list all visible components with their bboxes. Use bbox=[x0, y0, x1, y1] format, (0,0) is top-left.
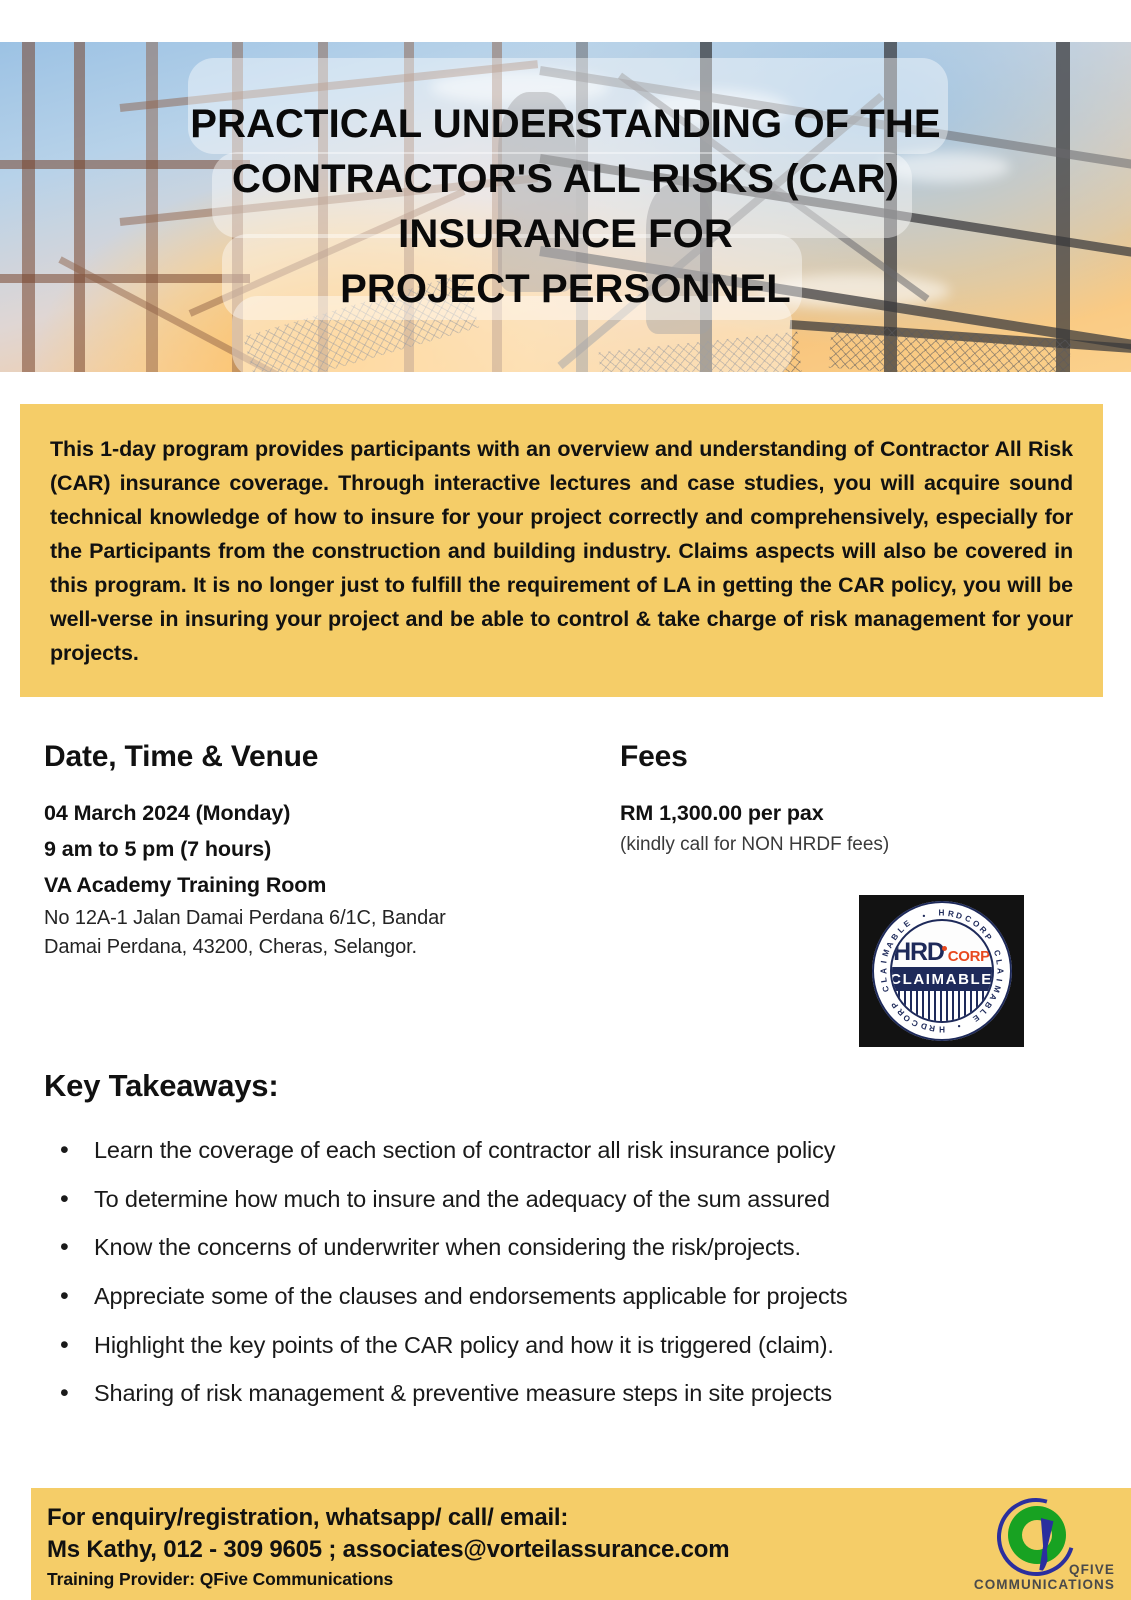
fee-note: (kindly call for NON HRDF fees) bbox=[620, 832, 1090, 859]
badge-inner-circle: HRD CORP CLAIMABLE bbox=[890, 919, 994, 1023]
fees-heading: Fees bbox=[620, 740, 1090, 774]
takeaway-item: •Highlight the key points of the CAR pol… bbox=[60, 1331, 1060, 1360]
title-line-3: INSURANCE FOR bbox=[398, 208, 733, 261]
venue-name: VA Academy Training Room bbox=[44, 868, 584, 904]
takeaway-item: •Know the concerns of underwriter when c… bbox=[60, 1233, 1060, 1262]
date-time-venue-column: Date, Time & Venue 04 March 2024 (Monday… bbox=[44, 740, 584, 962]
takeaway-text: Sharing of risk management & preventive … bbox=[94, 1379, 832, 1408]
takeaway-item: •Learn the coverage of each section of c… bbox=[60, 1136, 1060, 1165]
hrd-red-dot bbox=[942, 946, 947, 951]
hrdcorp-claimable-badge: HRDCORP CLAIMABLE • HRDCORP CLAIMABLE • … bbox=[859, 895, 1024, 1047]
program-description-box: This 1-day program provides participants… bbox=[20, 404, 1103, 697]
page-title: PRACTICAL UNDERSTANDING OF THE CONTRACTO… bbox=[0, 42, 1131, 372]
key-takeaways-list: •Learn the coverage of each section of c… bbox=[60, 1136, 1060, 1428]
takeaway-text: Know the concerns of underwriter when co… bbox=[94, 1233, 801, 1262]
title-line-1: PRACTICAL UNDERSTANDING OF THE bbox=[190, 98, 940, 151]
event-time: 9 am to 5 pm (7 hours) bbox=[44, 832, 584, 868]
takeaway-item: •To determine how much to insure and the… bbox=[60, 1185, 1060, 1214]
title-line-2: CONTRACTOR'S ALL RISKS (CAR) bbox=[232, 153, 899, 206]
program-description-text: This 1-day program provides participants… bbox=[50, 432, 1073, 670]
event-date: 04 March 2024 (Monday) bbox=[44, 796, 584, 832]
contact-text-block: For enquiry/registration, whatsapp/ call… bbox=[47, 1502, 729, 1593]
takeaway-text: Highlight the key points of the CAR poli… bbox=[94, 1331, 834, 1360]
hrd-wordmark: HRD bbox=[893, 940, 947, 965]
contact-prompt: For enquiry/registration, whatsapp/ call… bbox=[47, 1502, 729, 1534]
takeaway-item: •Sharing of risk management & preventive… bbox=[60, 1379, 1060, 1408]
title-line-4: PROJECT PERSONNEL bbox=[340, 263, 791, 316]
takeaway-item: •Appreciate some of the clauses and endo… bbox=[60, 1282, 1060, 1311]
bullet-icon: • bbox=[60, 1185, 94, 1214]
bullet-icon: • bbox=[60, 1282, 94, 1311]
claimable-text: CLAIMABLE bbox=[890, 971, 993, 988]
qfive-logo-text: QFIVE COMMUNICATIONS bbox=[965, 1562, 1115, 1592]
badge-stripes bbox=[892, 991, 992, 1023]
corp-wordmark: CORP bbox=[948, 949, 990, 965]
fees-column: Fees RM 1,300.00 per pax (kindly call fo… bbox=[620, 740, 1090, 858]
key-takeaways-heading: Key Takeaways: bbox=[44, 1068, 278, 1104]
contact-details[interactable]: Ms Kathy, 012 - 309 9605 ; associates@vo… bbox=[47, 1534, 729, 1566]
takeaway-text: Learn the coverage of each section of co… bbox=[94, 1136, 835, 1165]
bullet-icon: • bbox=[60, 1233, 94, 1262]
fee-amount: RM 1,300.00 per pax bbox=[620, 796, 1090, 832]
contact-footer-bar: For enquiry/registration, whatsapp/ call… bbox=[31, 1488, 1131, 1600]
badge-brand-row: HRD CORP bbox=[892, 921, 992, 967]
qfive-communications-logo: QFIVE COMMUNICATIONS bbox=[965, 1496, 1115, 1594]
venue-address-line-1: No 12A-1 Jalan Damai Perdana 6/1C, Banda… bbox=[44, 904, 584, 933]
date-time-venue-heading: Date, Time & Venue bbox=[44, 740, 584, 774]
bullet-icon: • bbox=[60, 1379, 94, 1408]
training-provider: Training Provider: QFive Communications bbox=[47, 1567, 729, 1592]
bullet-icon: • bbox=[60, 1136, 94, 1165]
bullet-icon: • bbox=[60, 1331, 94, 1360]
takeaway-text: To determine how much to insure and the … bbox=[94, 1185, 830, 1214]
venue-address-line-2: Damai Perdana, 43200, Cheras, Selangor. bbox=[44, 933, 584, 962]
takeaway-text: Appreciate some of the clauses and endor… bbox=[94, 1282, 848, 1311]
claimable-bar: CLAIMABLE bbox=[892, 967, 992, 991]
header-banner: PRACTICAL UNDERSTANDING OF THE CONTRACTO… bbox=[0, 42, 1131, 372]
